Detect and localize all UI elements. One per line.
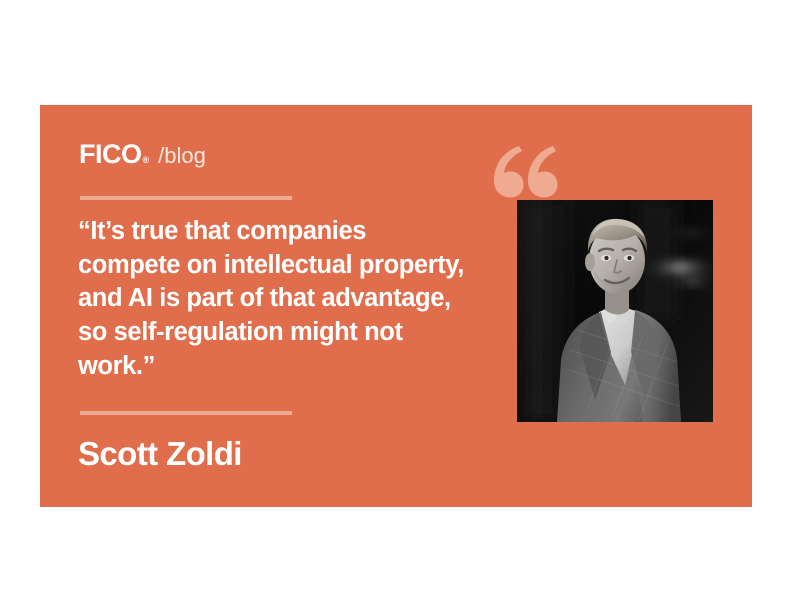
brand-lockup[interactable]: FICO ® /blog	[79, 141, 206, 168]
divider-top	[80, 196, 292, 200]
portrait-photo: Portrait	[517, 200, 713, 422]
double-quote-icon	[488, 145, 558, 207]
quote-text: “It’s true that companies compete on int…	[78, 215, 498, 383]
quote-card: FICO ® /blog “It’s true that companies c…	[40, 105, 752, 507]
attribution-name: Scott Zoldi	[78, 436, 242, 472]
brand-section-label: /blog	[158, 145, 206, 167]
brand-name: FICO	[79, 141, 142, 168]
divider-bottom	[80, 411, 292, 415]
registered-trademark-icon: ®	[143, 155, 150, 165]
